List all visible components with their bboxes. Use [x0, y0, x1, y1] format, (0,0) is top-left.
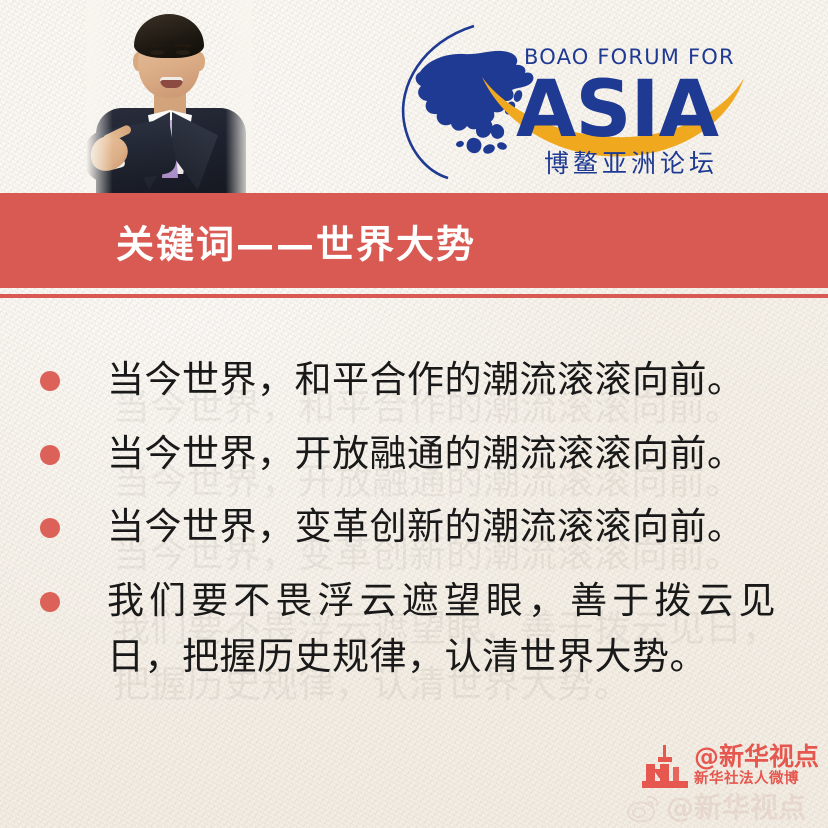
bullet-text: 当今世界，变革创新的潮流滚滚向前。 — [107, 499, 776, 556]
portrait-eye-left — [150, 50, 164, 55]
bullet-dot-icon — [40, 518, 60, 538]
weibo-handle: @新华视点 — [666, 794, 806, 822]
list-item: 当今世界，变革创新的潮流滚滚向前。 — [0, 499, 828, 556]
brand-subtitle: 新华社法人微博 — [694, 771, 819, 788]
portrait-eye-right — [176, 50, 190, 55]
poster-root: BOAO FORUM FOR ASIA 博鳌亚洲论坛 关键词——世界大势 当今世… — [0, 0, 828, 828]
bullet-dot-icon — [40, 371, 60, 391]
bullet-text: 当今世界，开放融通的潮流滚滚向前。 — [107, 426, 776, 483]
xinhua-mark-icon — [640, 743, 692, 789]
weibo-eye-icon — [626, 793, 660, 823]
logo-wordmark: ASIA — [516, 65, 719, 155]
page-title: 关键词——世界大势 — [116, 213, 476, 268]
bullet-list: 当今世界，和平合作的潮流滚滚向前。 当今世界，开放融通的潮流滚滚向前。 当今世界… — [0, 352, 828, 703]
bullet-dot-icon — [40, 445, 60, 465]
boao-forum-logo: BOAO FORUM FOR ASIA 博鳌亚洲论坛 — [398, 20, 748, 182]
banner-divider-rule — [0, 294, 828, 298]
logo-chinese-name: 博鳌亚洲论坛 — [544, 149, 718, 178]
list-item: 当今世界，和平合作的潮流滚滚向前。 — [0, 352, 828, 409]
bullet-dot-icon — [40, 592, 60, 612]
section-banner: 关键词——世界大势 — [0, 193, 828, 288]
bullet-text: 当今世界，和平合作的潮流滚滚向前。 — [107, 352, 776, 409]
weibo-watermark: @新华视点 — [626, 789, 828, 827]
portrait-hair — [134, 14, 204, 58]
portrait-mouth — [160, 77, 183, 88]
list-item: 当今世界，开放融通的潮流滚滚向前。 — [0, 426, 828, 483]
brand-name: @新华视点 — [694, 744, 819, 770]
header: BOAO FORUM FOR ASIA 博鳌亚洲论坛 — [0, 0, 828, 193]
brand-text-block: @新华视点 新华社法人微博 — [694, 744, 819, 788]
brand-lockup: @新华视点 新华社法人微博 — [640, 742, 828, 790]
bullet-text: 我们要不畏浮云遮望眼，善于拨云见日，把握历史规律，认清世界大势。 — [107, 573, 776, 686]
portrait-photo — [86, 0, 252, 193]
list-item: 我们要不畏浮云遮望眼，善于拨云见日，把握历史规律，认清世界大势。 — [0, 573, 828, 686]
